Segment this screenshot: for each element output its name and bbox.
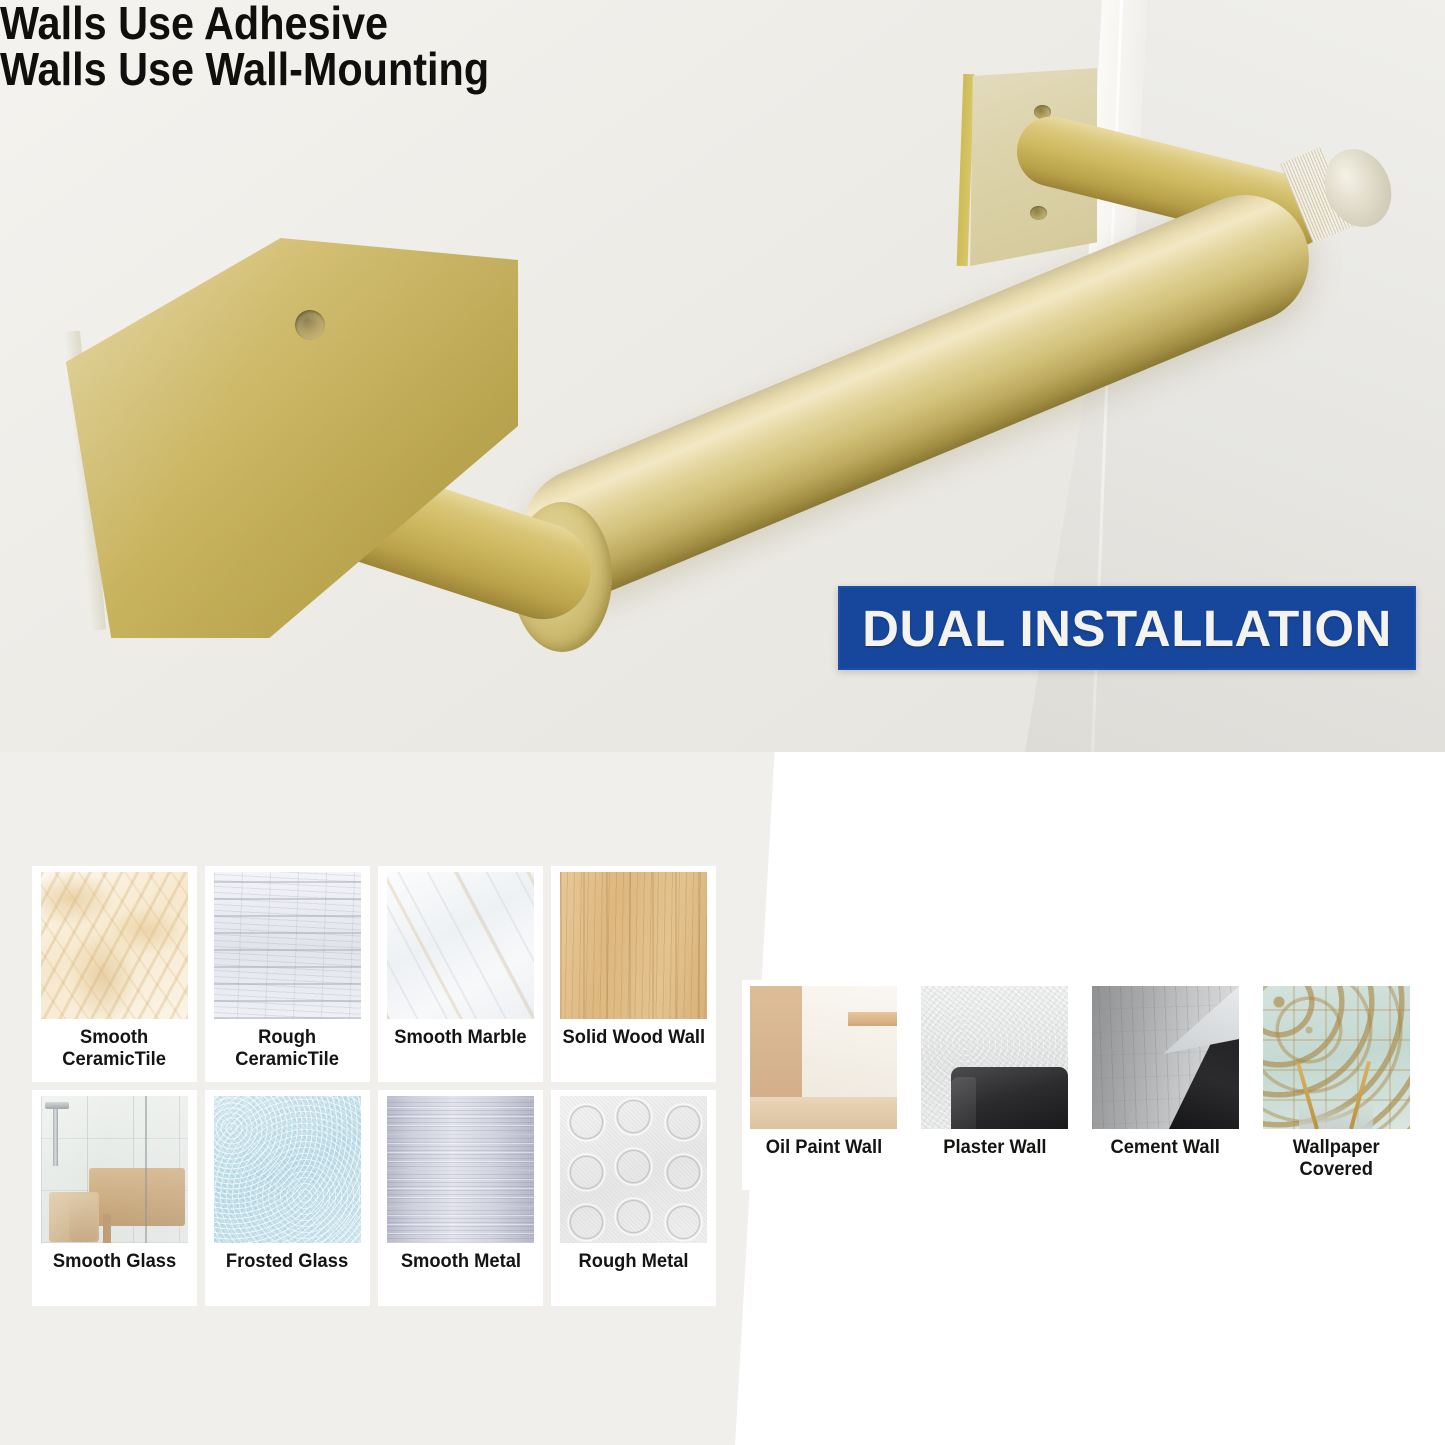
wall-type-card: Frosted Glass	[205, 1090, 370, 1306]
wall-type-label: Oil Paint Wall	[763, 1129, 883, 1190]
smooth-marble-thumbnail	[387, 872, 534, 1019]
wall-type-label: Rough Metal	[577, 1243, 691, 1306]
wall-type-card: Smooth Metal	[378, 1090, 543, 1306]
wall-type-card: RoughCeramicTile	[205, 866, 370, 1082]
rough-metal-thumbnail	[560, 1096, 707, 1243]
wall-type-card: SmoothCeramicTile	[32, 866, 197, 1082]
wall-type-card: Plaster Wall	[913, 980, 1076, 1190]
dual-installation-badge-label: DUAL INSTALLATION	[862, 603, 1392, 654]
solid-wood-wall-thumbnail	[560, 872, 707, 1019]
frosted-glass-thumbnail	[214, 1096, 361, 1243]
wall-type-card: Rough Metal	[551, 1090, 716, 1306]
rough-ceramic-tile-thumbnail	[214, 872, 361, 1019]
infographic-canvas: DUAL INSTALLATION Walls Use Adhesive Wal…	[0, 0, 1445, 1445]
wall-type-label: RoughCeramicTile	[234, 1019, 341, 1082]
wall-type-label: WallpaperCovered	[1291, 1129, 1382, 1190]
wall-type-label: Solid Wood Wall	[560, 1019, 706, 1082]
smooth-ceramic-tile-thumbnail	[41, 872, 188, 1019]
oil-paint-wall-thumbnail	[750, 986, 897, 1129]
wall-type-card: Smooth Glass	[32, 1090, 197, 1306]
wall-type-label: Plaster Wall	[941, 1129, 1048, 1190]
wall-type-card: Oil Paint Wall	[742, 980, 905, 1190]
cement-wall-thumbnail	[1092, 986, 1239, 1129]
left-plate-screw-hole	[295, 310, 325, 340]
wall-type-card: Solid Wood Wall	[551, 866, 716, 1082]
wall-type-label: Cement Wall	[1109, 1129, 1222, 1190]
wall-mounting-type-grid: Oil Paint Wall Plaster Wall Cement Wall	[742, 980, 1418, 1190]
wall-type-card: Cement Wall	[1084, 980, 1247, 1190]
wall-type-label: Smooth Marble	[392, 1019, 528, 1082]
right-plate-screw-hole-bottom	[1030, 206, 1047, 220]
smooth-metal-thumbnail	[387, 1096, 534, 1243]
wall-type-card: Smooth Marble	[378, 866, 543, 1082]
wall-type-label: SmoothCeramicTile	[61, 1019, 168, 1082]
wall-type-label: Smooth Metal	[399, 1243, 523, 1306]
product-photo: DUAL INSTALLATION	[0, 0, 1445, 752]
wall-mounting-section-heading: Walls Use Wall-Mounting	[0, 46, 1301, 92]
wall-type-label: Frosted Glass	[224, 1243, 350, 1306]
smooth-glass-thumbnail	[41, 1096, 188, 1243]
wall-type-card: WallpaperCovered	[1255, 980, 1418, 1190]
plaster-wall-thumbnail	[921, 986, 1068, 1129]
dual-installation-badge: DUAL INSTALLATION	[838, 586, 1416, 670]
adhesive-section-heading: Walls Use Adhesive	[0, 0, 1301, 46]
wallpaper-covered-thumbnail	[1263, 986, 1410, 1129]
adhesive-wall-type-grid: SmoothCeramicTile RoughCeramicTile Smoot…	[32, 866, 716, 1306]
wall-type-label: Smooth Glass	[51, 1243, 178, 1306]
